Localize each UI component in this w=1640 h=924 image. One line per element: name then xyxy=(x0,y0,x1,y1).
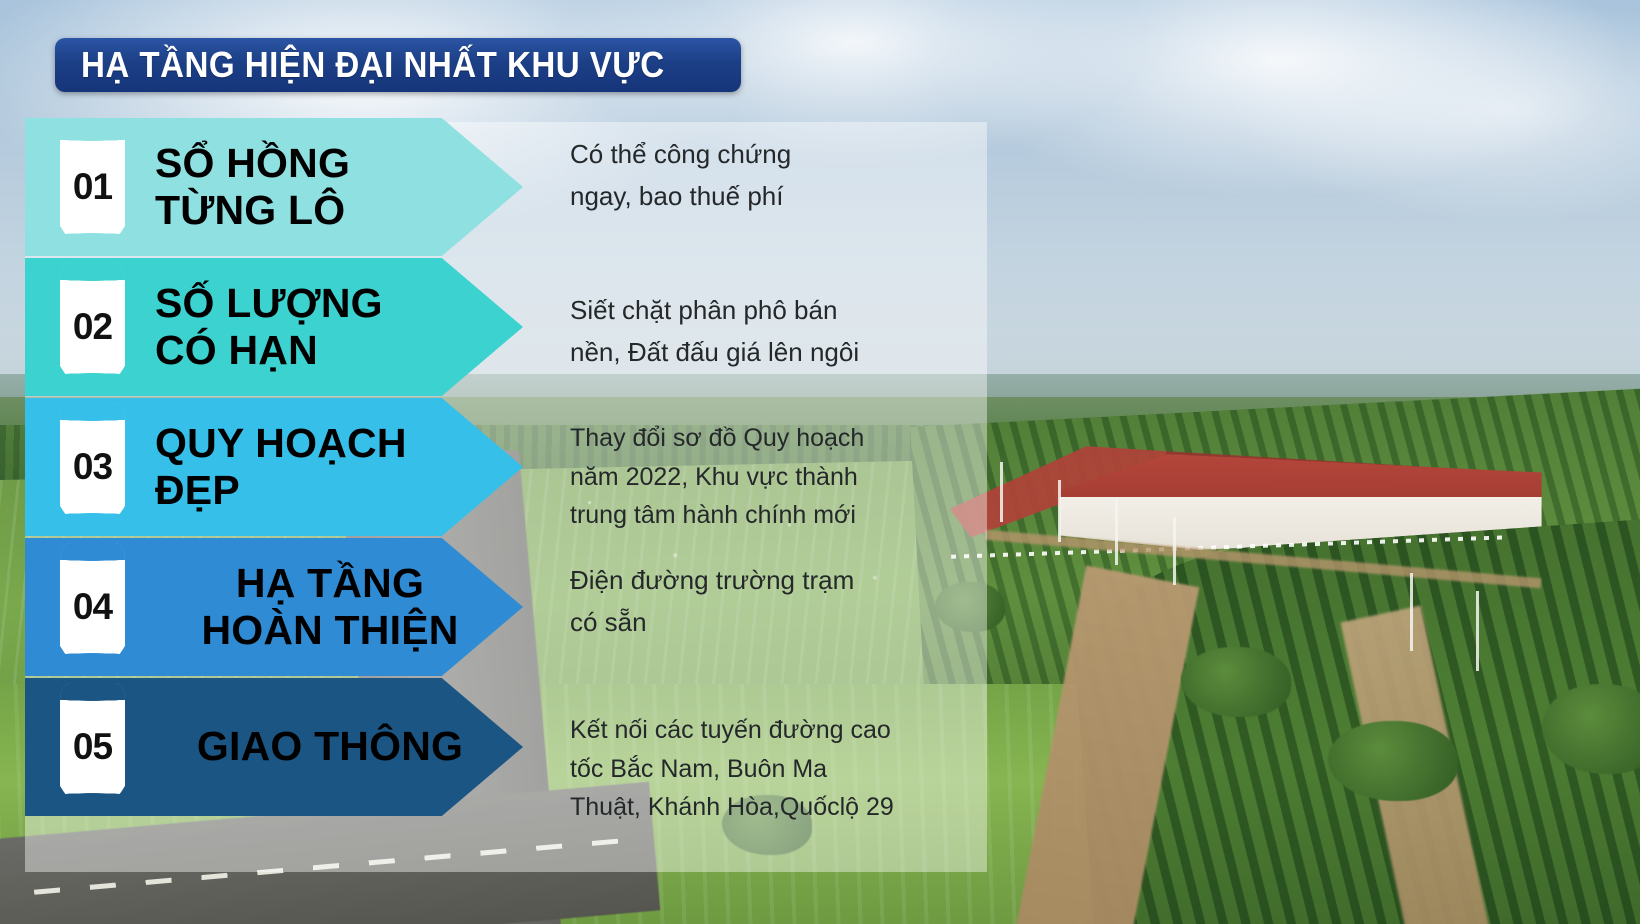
feature-desc-line1: Thay đổi sơ đồ Quy hoạch xyxy=(570,419,970,458)
bush xyxy=(1181,647,1291,717)
feature-list: 01 SỔ HỒNG TỪNG LÔ Có thể công chứng nga… xyxy=(25,118,1005,818)
feature-desc-line2: ngay, bao thuế phí xyxy=(570,175,970,217)
number-badge-04: 04 xyxy=(60,543,125,671)
bush xyxy=(1328,721,1458,801)
utility-pole xyxy=(1476,591,1479,671)
feature-row[interactable]: 03 QUY HOẠCH ĐẸP Thay đổi sơ đồ Quy hoạc… xyxy=(25,398,1005,538)
feature-title-01: SỔ HỒNG TỪNG LÔ xyxy=(155,118,505,256)
feature-title-line1: HẠ TẦNG xyxy=(236,560,424,607)
feature-title-line1: QUY HOẠCH xyxy=(155,420,505,467)
feature-title-line2: CÓ HẠN xyxy=(155,327,505,374)
badge-number: 02 xyxy=(73,306,112,348)
utility-pole xyxy=(1115,499,1118,565)
feature-desc-line2: có sẵn xyxy=(570,601,970,643)
feature-row[interactable]: 05 GIAO THÔNG Kết nối các tuyến đường ca… xyxy=(25,678,1005,818)
number-badge-02: 02 xyxy=(60,263,125,391)
feature-title-04: HẠ TẦNG HOÀN THIỆN xyxy=(155,538,505,676)
feature-title-line1: SỔ HỒNG xyxy=(155,140,505,187)
number-badge-01: 01 xyxy=(60,123,125,251)
feature-desc-02: Siết chặt phân phô bán nền, Đất đấu giá … xyxy=(570,262,970,400)
number-badge-05: 05 xyxy=(60,683,125,811)
feature-desc-line2: tốc Bắc Nam, Buôn Ma xyxy=(570,750,970,789)
feature-desc-04: Điện đường trường trạm có sẵn xyxy=(570,532,970,670)
feature-desc-line1: Có thể công chứng xyxy=(570,133,970,175)
feature-title-line1: SỐ LƯỢNG xyxy=(155,280,505,327)
feature-row[interactable]: 02 SỐ LƯỢNG CÓ HẠN Siết chặt phân phô bá… xyxy=(25,258,1005,398)
feature-desc-line2: năm 2022, Khu vực thành xyxy=(570,458,970,497)
feature-desc-line3: Thuật, Khánh Hòa,Quốclộ 29 xyxy=(570,788,970,827)
feature-desc-01: Có thể công chứng ngay, bao thuế phí xyxy=(570,106,970,244)
slide-canvas: HẠ TẦNG HIỆN ĐẠI NHẤT KHU VỰC 01 SỔ HỒNG… xyxy=(0,0,1640,924)
feature-title-03: QUY HOẠCH ĐẸP xyxy=(155,398,505,536)
page-title-banner: HẠ TẦNG HIỆN ĐẠI NHẤT KHU VỰC xyxy=(55,38,741,92)
feature-desc-line1: Siết chặt phân phô bán xyxy=(570,289,970,331)
feature-desc-line3: trung tâm hành chính mới xyxy=(570,496,970,535)
utility-pole xyxy=(1173,517,1176,585)
utility-pole xyxy=(1410,573,1413,651)
feature-desc-03: Thay đổi sơ đồ Quy hoạch năm 2022, Khu v… xyxy=(570,408,970,546)
feature-title-05: GIAO THÔNG xyxy=(155,678,505,816)
feature-desc-line1: Điện đường trường trạm xyxy=(570,559,970,601)
feature-title-line1: GIAO THÔNG xyxy=(197,723,463,770)
feature-title-line2: HOÀN THIỆN xyxy=(201,607,458,654)
feature-desc-05: Kết nối các tuyến đường cao tốc Bắc Nam,… xyxy=(570,700,970,838)
feature-title-line2: ĐẸP xyxy=(155,467,505,514)
page-title: HẠ TẦNG HIỆN ĐẠI NHẤT KHU VỰC xyxy=(81,44,665,86)
feature-desc-line2: nền, Đất đấu giá lên ngôi xyxy=(570,331,970,373)
badge-number: 04 xyxy=(73,586,112,628)
feature-row[interactable]: 04 HẠ TẦNG HOÀN THIỆN Điện đường trường … xyxy=(25,538,1005,678)
feature-title-line2: TỪNG LÔ xyxy=(155,187,505,234)
badge-number: 03 xyxy=(73,446,112,488)
feature-title-02: SỐ LƯỢNG CÓ HẠN xyxy=(155,258,505,396)
badge-number: 01 xyxy=(73,166,112,208)
badge-number: 05 xyxy=(73,726,112,768)
feature-desc-line1: Kết nối các tuyến đường cao xyxy=(570,711,970,750)
utility-pole xyxy=(1058,480,1061,542)
number-badge-03: 03 xyxy=(60,403,125,531)
feature-row[interactable]: 01 SỔ HỒNG TỪNG LÔ Có thể công chứng nga… xyxy=(25,118,1005,258)
